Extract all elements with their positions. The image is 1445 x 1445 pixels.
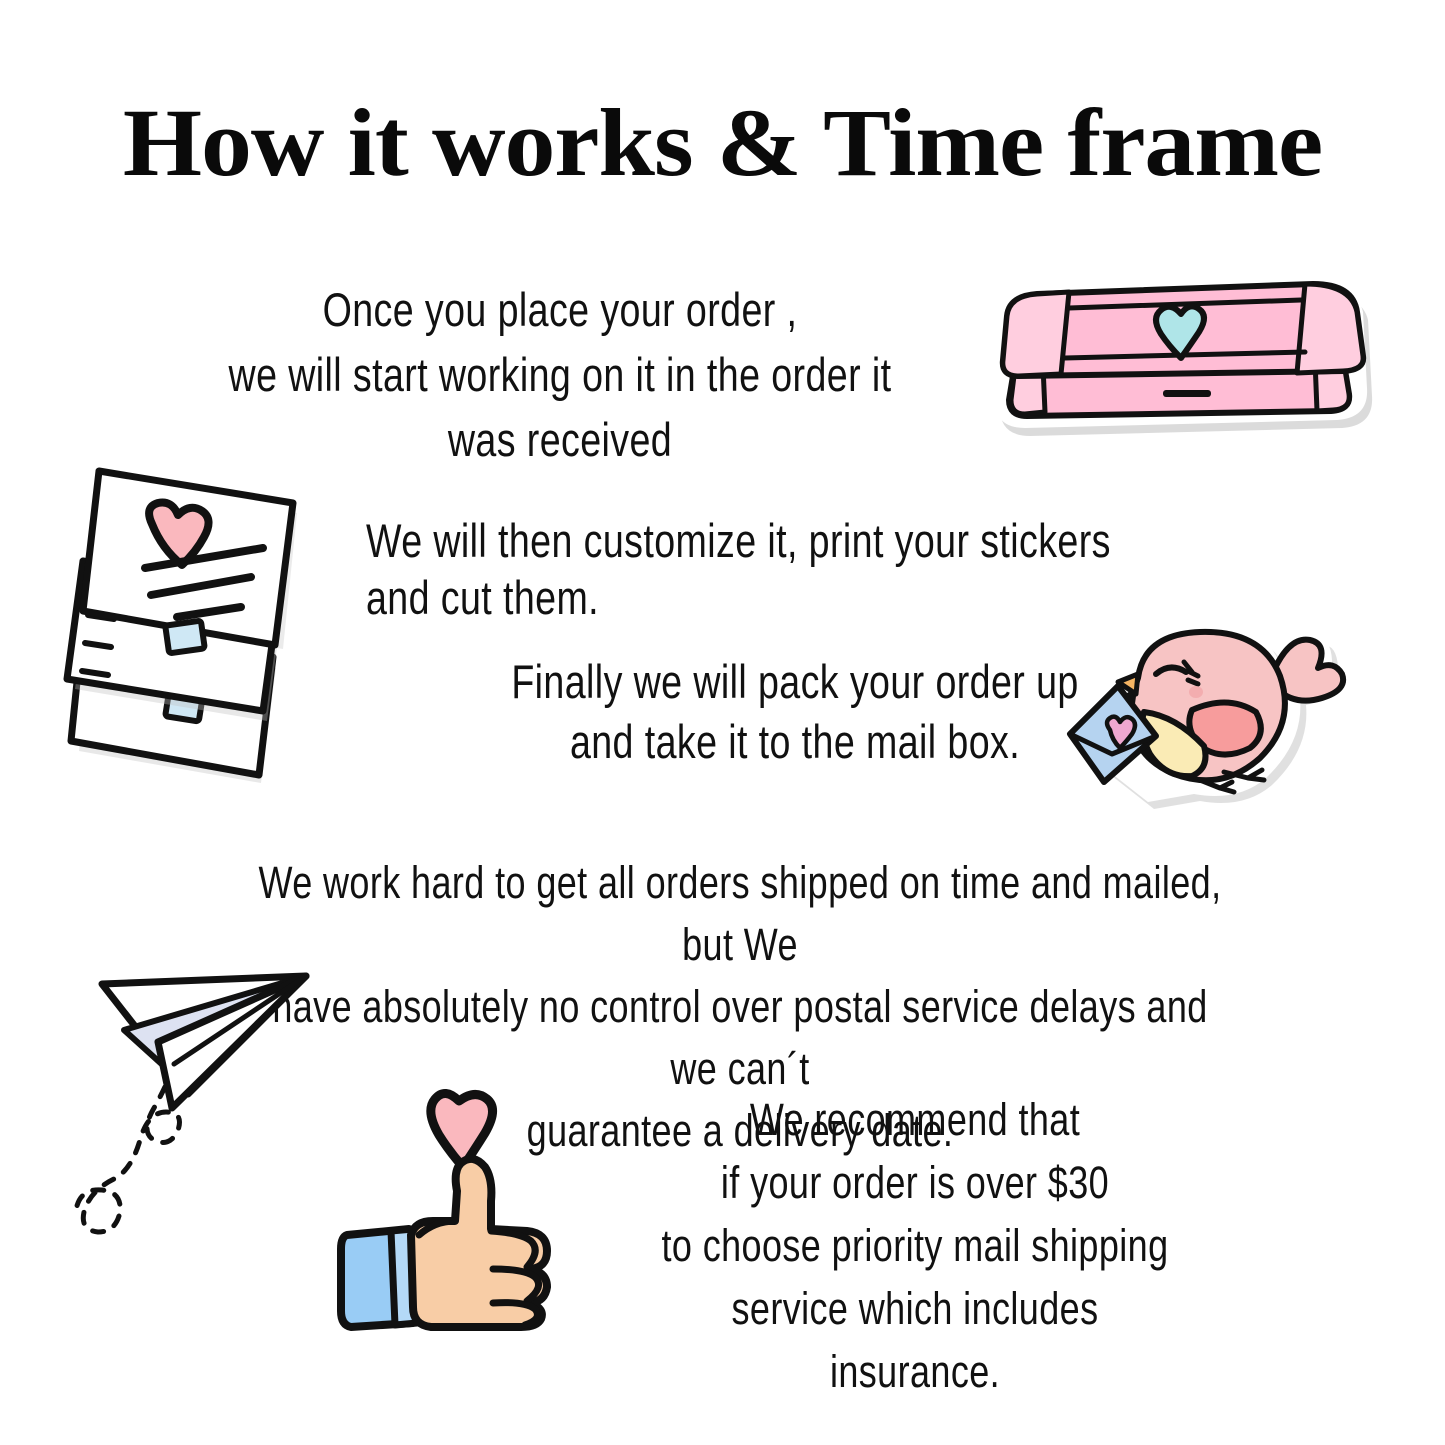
bird-blush — [1189, 686, 1203, 698]
paper-airplane-with-dashed-trail — [62, 972, 332, 1237]
step-1-text: Once you place your order , we will star… — [208, 278, 912, 473]
shipping-recommendation-text: We recommend that if your order is over … — [643, 1088, 1187, 1403]
sticker-sheets-stack — [55, 455, 345, 785]
heart-icon — [431, 1093, 493, 1167]
pink-cutting-machine-sticker — [985, 272, 1375, 442]
infographic-page: How it works & Time frame Once you place… — [0, 0, 1445, 1445]
machine-slot — [1163, 390, 1211, 397]
pink-bird-carrying-envelope — [1052, 612, 1362, 827]
page-title: How it works & Time frame — [0, 95, 1445, 191]
step-2-text: We will then customize it, print your st… — [366, 512, 1174, 627]
thumbs-up-hand-with-heart — [335, 1085, 575, 1330]
sheet-top-tab — [165, 621, 205, 654]
